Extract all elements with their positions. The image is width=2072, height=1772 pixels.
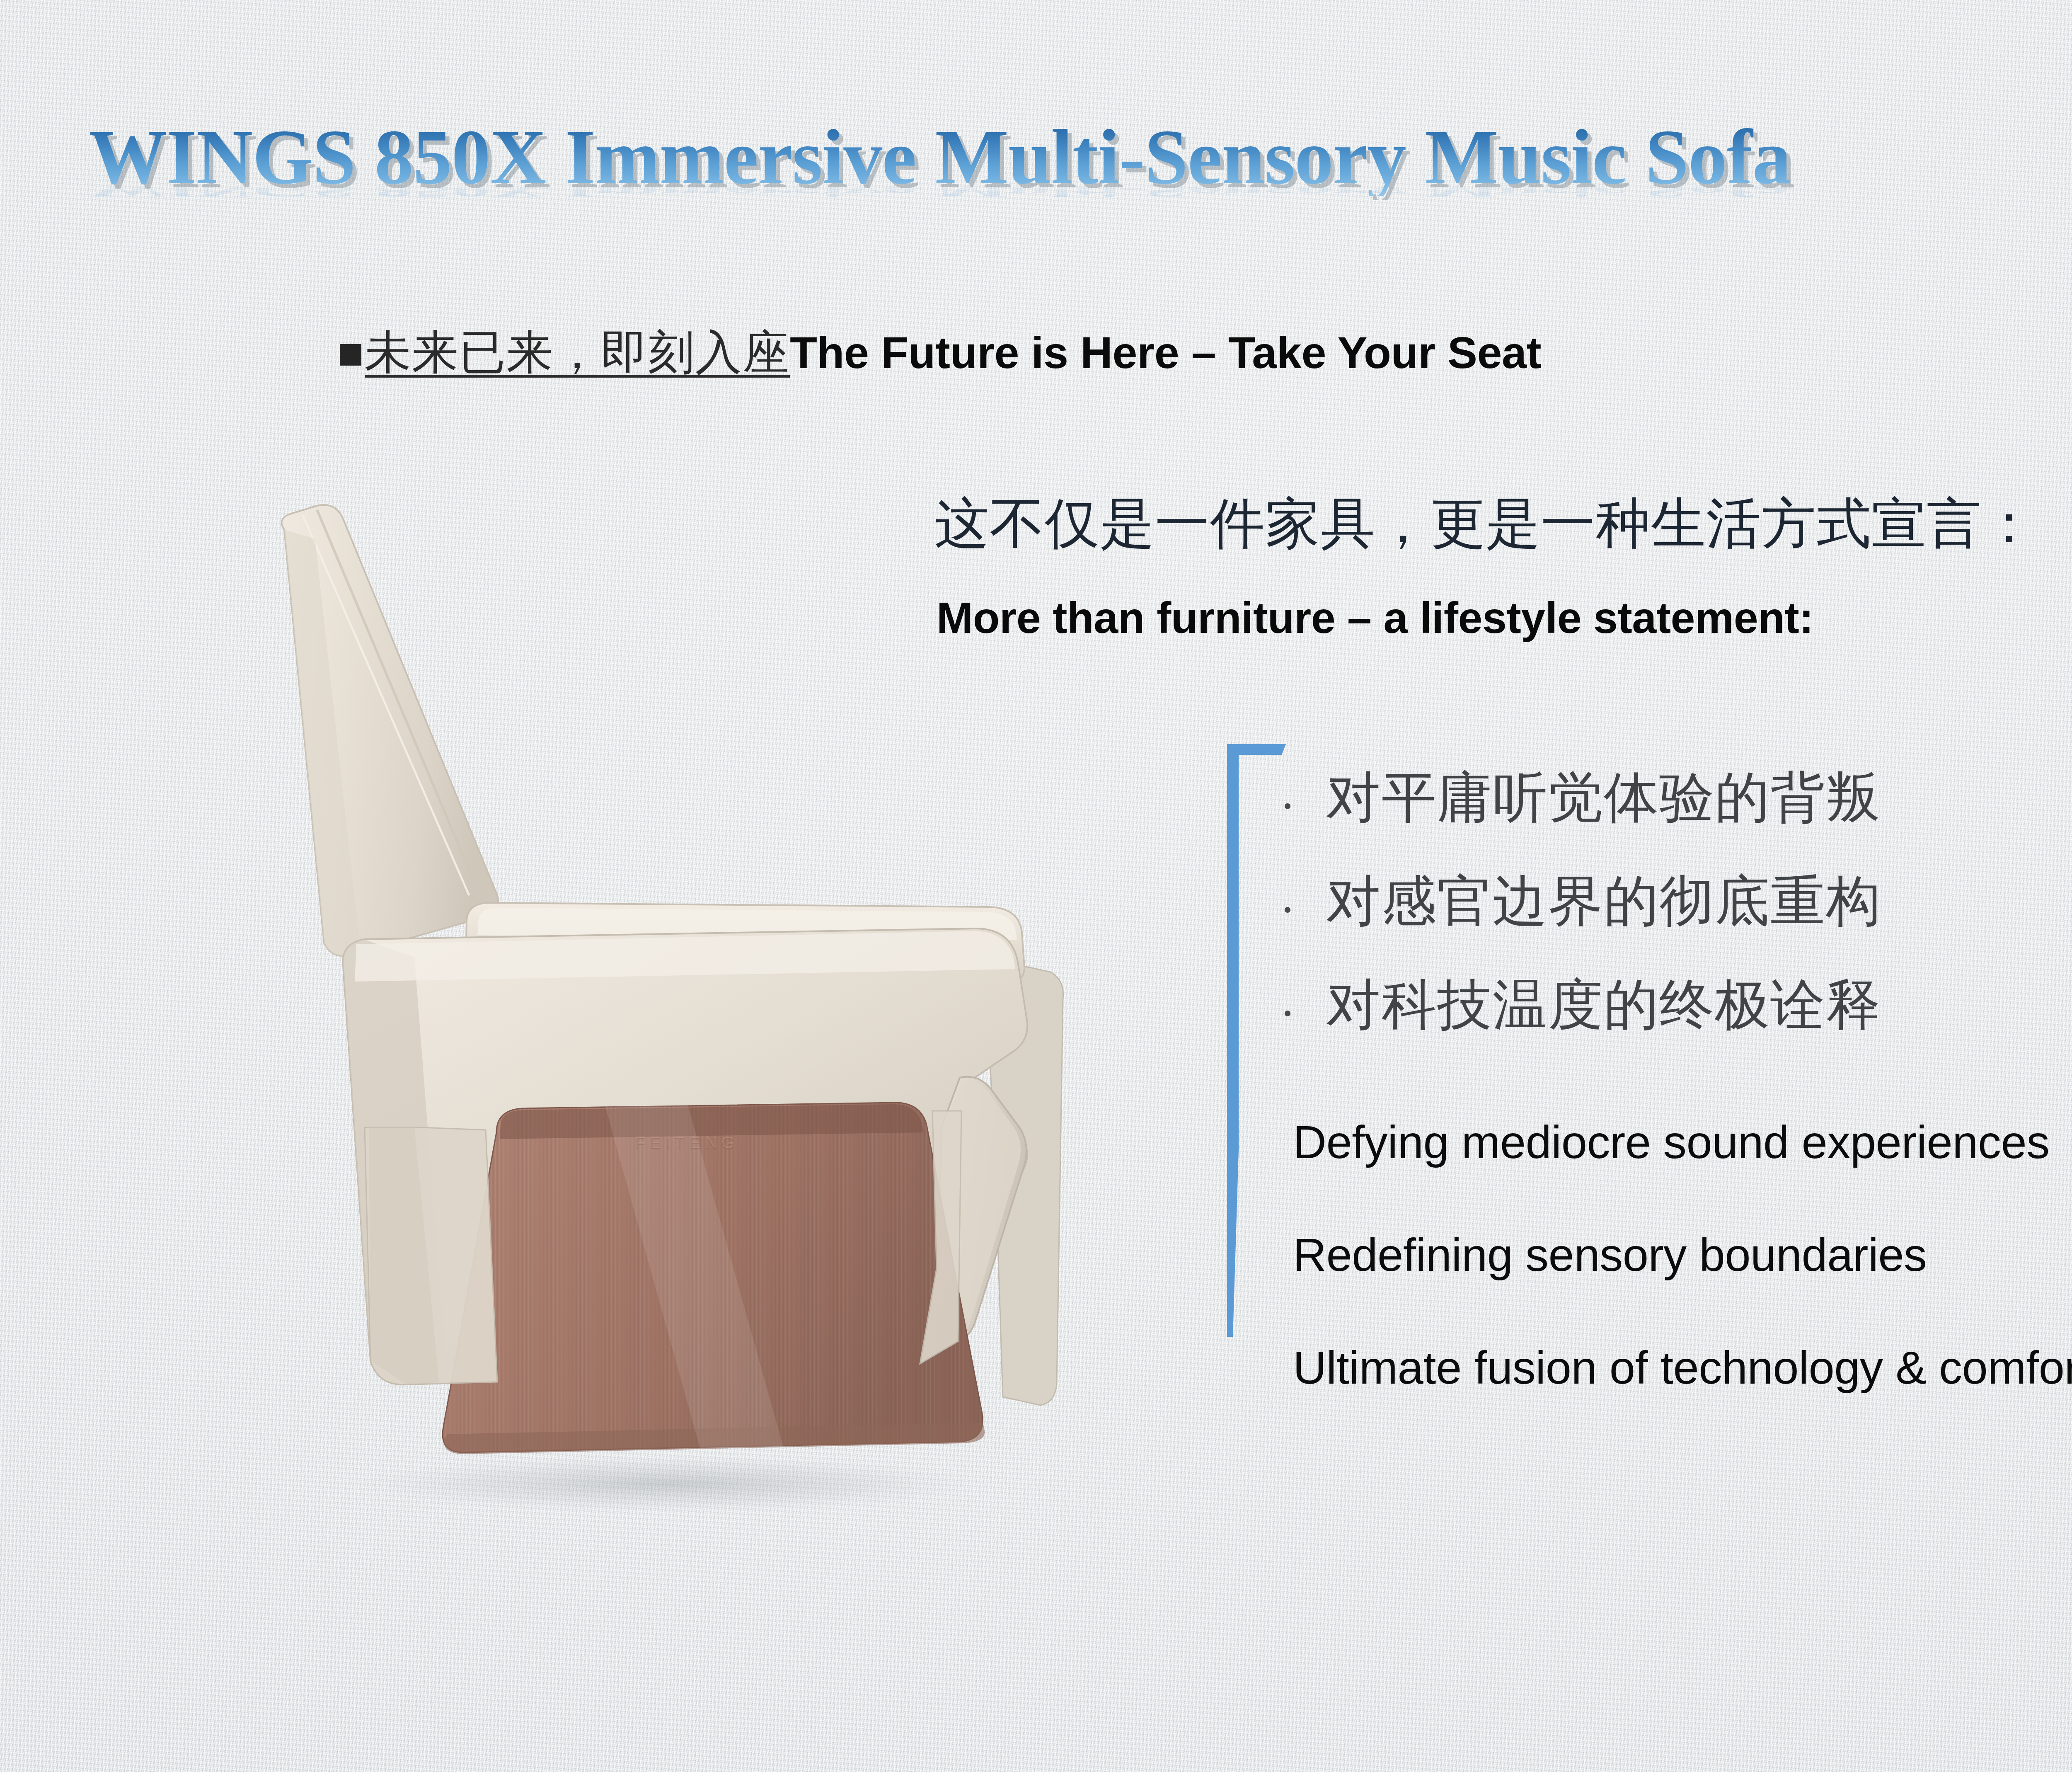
square-bullet-icon — [340, 344, 361, 366]
subtitle-bullet-line: 未来已来，即刻入座 The Future is Here – Take Your… — [340, 321, 1541, 384]
dot-bullet-icon — [1285, 803, 1290, 809]
list-item: Defying mediocre sound experiences — [1293, 1119, 2072, 1232]
subtitle-english: The Future is Here – Take Your Seat — [790, 327, 1541, 378]
list-item-label: 对科技温度的终极诠释 — [1326, 968, 1881, 1042]
list-item: Redefining sensory boundaries — [1293, 1232, 2072, 1345]
list-item: 对感官边界的彻底重构 — [1285, 850, 2072, 953]
page-title: WINGS 850X Immersive Multi-Sensory Music… — [89, 118, 2057, 242]
statement-chinese: 这不仅是一件家具，更是一种生活方式宣言： — [934, 487, 2037, 561]
list-item: 对科技温度的终极诠释 — [1285, 953, 2072, 1057]
subtitle-chinese: 未来已来，即刻入座 — [365, 321, 790, 384]
chinese-feature-list: 对平庸听觉体验的背叛 对感官边界的彻底重构 对科技温度的终极诠释 — [1285, 746, 2072, 1057]
english-feature-list: Defying mediocre sound experiences Redef… — [1293, 1119, 2072, 1457]
slide-canvas: WINGS 850X Immersive Multi-Sensory Music… — [0, 0, 2072, 1772]
page-title-text: WINGS 850X Immersive Multi-Sensory Music… — [89, 118, 2057, 196]
dot-bullet-icon — [1285, 907, 1290, 913]
list-item: Ultimate fusion of technology & comfort — [1293, 1345, 2072, 1457]
statement-english: More than furniture – a lifestyle statem… — [937, 593, 1813, 643]
list-item: 对平庸听觉体验的背叛 — [1285, 746, 2072, 850]
list-item-label: 对感官边界的彻底重构 — [1326, 865, 1881, 938]
svg-text:FEITENG: FEITENG — [635, 1134, 739, 1153]
dot-bullet-icon — [1285, 1011, 1290, 1016]
list-item-label: 对平庸听觉体验的背叛 — [1326, 761, 1881, 835]
